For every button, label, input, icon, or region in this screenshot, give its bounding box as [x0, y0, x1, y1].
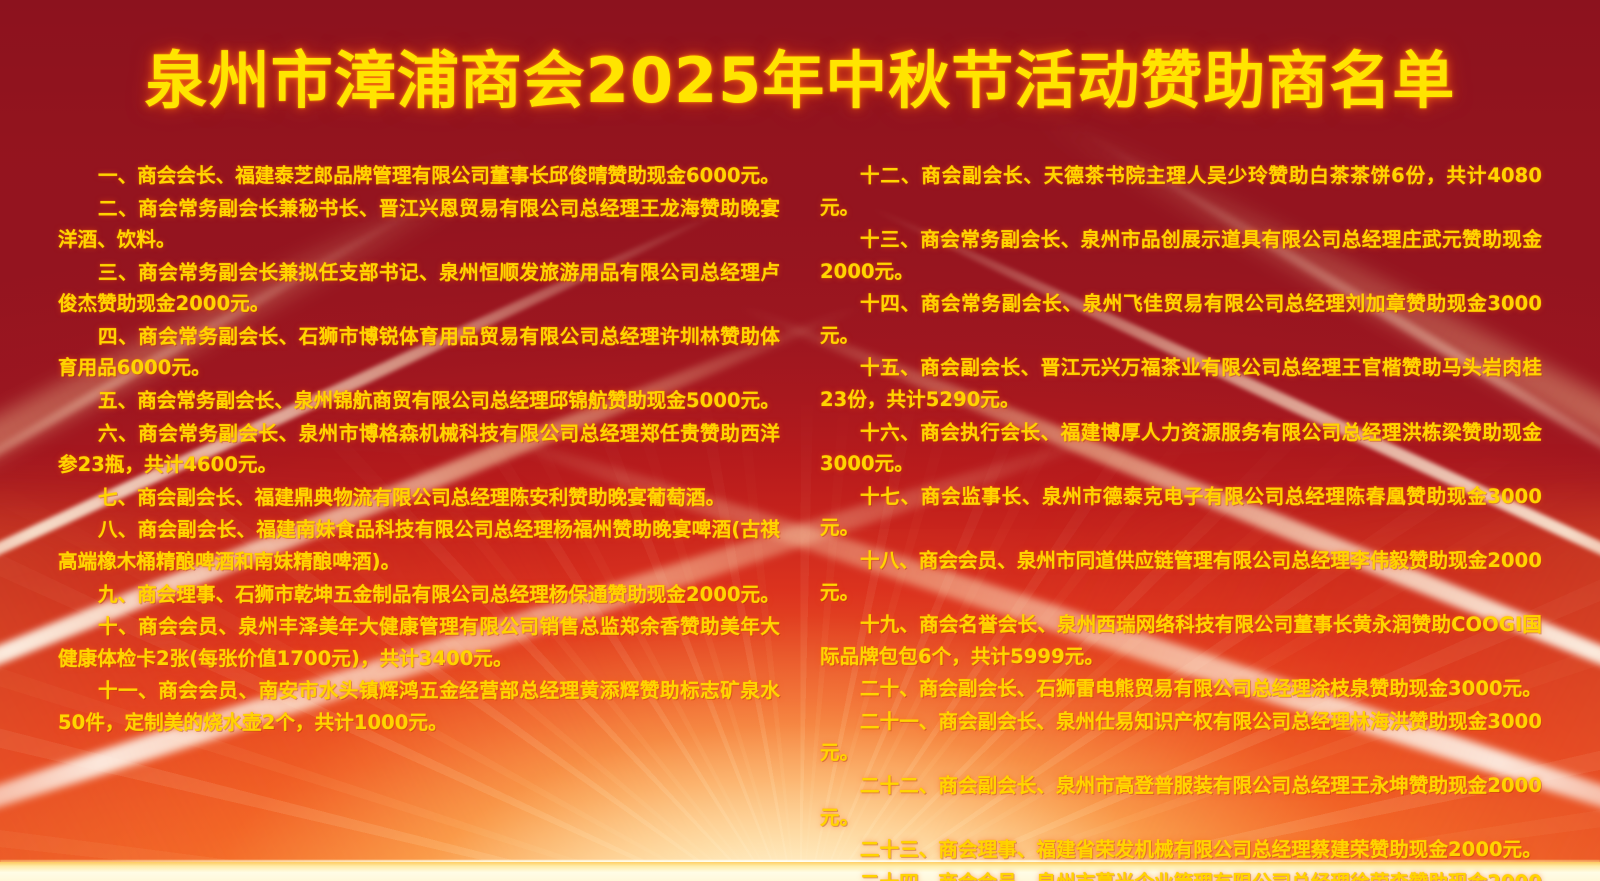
sponsor-entry: 八、商会副会长、福建南妹食品科技有限公司总经理杨福州赞助晚宴啤酒(古祺高端橡木桶…: [58, 514, 780, 577]
sponsor-entry: 十八、商会会员、泉州市同道供应链管理有限公司总经理李伟毅赞助现金2000元。: [820, 545, 1542, 608]
sponsor-entry: 七、商会副会长、福建鼎典物流有限公司总经理陈安利赞助晚宴葡萄酒。: [58, 482, 780, 514]
sponsor-entry: 二十三、商会理事、福建省荣发机械有限公司总经理蔡建荣赞助现金2000元。: [820, 834, 1542, 866]
sponsor-entry: 十、商会会员、泉州丰泽美年大健康管理有限公司销售总监郑余香赞助美年大健康体检卡2…: [58, 611, 780, 674]
sponsor-entry: 五、商会常务副会长、泉州锦航商贸有限公司总经理邱锦航赞助现金5000元。: [58, 385, 780, 417]
sponsor-entry: 二十二、商会副会长、泉州市高登普服装有限公司总经理王永坤赞助现金2000元。: [820, 770, 1542, 833]
sponsor-entry: 二、商会常务副会长兼秘书长、晋江兴恩贸易有限公司总经理王龙海赞助晚宴洋酒、饮料。: [58, 193, 780, 256]
sponsor-entry: 十三、商会常务副会长、泉州市品创展示道具有限公司总经理庄武元赞助现金2000元。: [820, 224, 1542, 287]
sponsor-entry: 十五、商会副会长、晋江元兴万福茶业有限公司总经理王官楷赞助马头岩肉桂23份，共计…: [820, 352, 1542, 415]
sponsor-column-right: 十二、商会副会长、天德茶书院主理人吴少玲赞助白茶茶饼6份，共计4080元。 十三…: [820, 160, 1542, 811]
sponsor-entry: 十二、商会副会长、天德茶书院主理人吴少玲赞助白茶茶饼6份，共计4080元。: [820, 160, 1542, 223]
sponsor-entry: 十七、商会监事长、泉州市德泰克电子有限公司总经理陈春凰赞助现金3000元。: [820, 481, 1542, 544]
sponsor-entry: 二十、商会副会长、石狮雷电熊贸易有限公司总经理涂枝泉赞助现金3000元。: [820, 673, 1542, 705]
sponsor-list-poster: 泉州市漳浦商会2025年中秋节活动赞助商名单 一、商会会长、福建泰芝郎品牌管理有…: [0, 0, 1600, 881]
page-title: 泉州市漳浦商会2025年中秋节活动赞助商名单: [0, 48, 1600, 115]
sponsor-entry: 九、商会理事、石狮市乾坤五金制品有限公司总经理杨保通赞助现金2000元。: [58, 579, 780, 611]
sponsor-column-left: 一、商会会长、福建泰芝郎品牌管理有限公司董事长邱俊晴赞助现金6000元。 二、商…: [58, 160, 780, 811]
sponsor-entry: 二十一、商会副会长、泉州仕易知识产权有限公司总经理林海洪赞助现金3000元。: [820, 706, 1542, 769]
sponsor-entry: 十一、商会会员、南安市水头镇辉鸿五金经营部总经理黄添辉赞助标志矿泉水50件，定制…: [58, 675, 780, 738]
sponsor-columns: 一、商会会长、福建泰芝郎品牌管理有限公司董事长邱俊晴赞助现金6000元。 二、商…: [0, 160, 1600, 811]
sponsor-entry: 一、商会会长、福建泰芝郎品牌管理有限公司董事长邱俊晴赞助现金6000元。: [58, 160, 780, 192]
sponsor-entry: 六、商会常务副会长、泉州市博格森机械科技有限公司总经理郑任贵赞助西洋参23瓶，共…: [58, 418, 780, 481]
sponsor-entry: 三、商会常务副会长兼拟任支部书记、泉州恒顺发旅游用品有限公司总经理卢俊杰赞助现金…: [58, 257, 780, 320]
sponsor-entry: 二十四、商会会员、泉州市暮光企业管理有限公司总经理徐荣森赞助现金2000元。: [820, 867, 1542, 881]
sponsor-entry: 四、商会常务副会长、石狮市博锐体育用品贸易有限公司总经理许圳林赞助体育用品600…: [58, 321, 780, 384]
sponsor-entry: 十六、商会执行会长、福建博厚人力资源服务有限公司总经理洪栋梁赞助现金3000元。: [820, 417, 1542, 480]
poster-content: 泉州市漳浦商会2025年中秋节活动赞助商名单 一、商会会长、福建泰芝郎品牌管理有…: [0, 0, 1600, 881]
sponsor-entry: 十四、商会常务副会长、泉州飞佳贸易有限公司总经理刘加章赞助现金3000元。: [820, 288, 1542, 351]
sponsor-entry: 十九、商会名誉会长、泉州西瑞网络科技有限公司董事长黄永润赞助COOGI国际品牌包…: [820, 609, 1542, 672]
